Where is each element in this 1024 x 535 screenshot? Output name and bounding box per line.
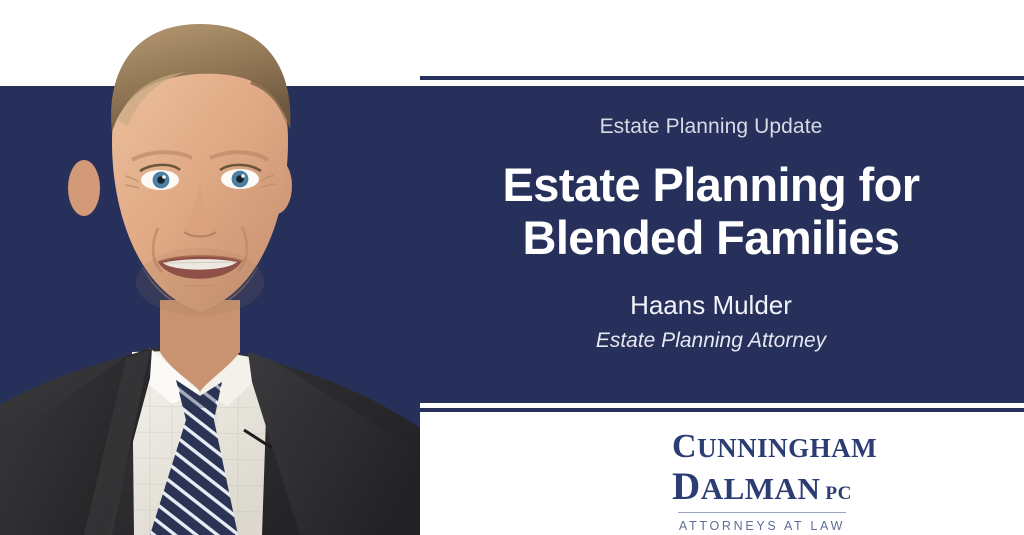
logo-cunningham-rest: UNNINGHAM xyxy=(697,433,877,463)
eyebrow-label: Estate Planning Update xyxy=(600,114,823,139)
headline-line-1: Estate Planning for xyxy=(503,158,920,211)
logo-entity-suffix: PC xyxy=(825,483,852,504)
speaker-role: Estate Planning Attorney xyxy=(596,328,826,354)
speaker-name: Haans Mulder xyxy=(630,290,792,321)
logo-tagline: ATTORNEYS AT LAW xyxy=(672,519,852,533)
logo-initial-d: D xyxy=(672,465,701,508)
logo-name-line-1: CUNNINGHAM xyxy=(672,430,852,464)
headline-line-2: Blended Families xyxy=(523,211,900,264)
banner-text-block: Estate Planning Update Estate Planning f… xyxy=(398,86,1024,403)
logo-dalman-rest: ALMAN xyxy=(701,471,821,506)
logo-initial-c: C xyxy=(672,428,697,465)
promo-banner: Estate Planning Update Estate Planning f… xyxy=(0,0,1024,535)
portrait-photo xyxy=(0,0,420,535)
firm-logo[interactable]: CUNNINGHAM DALMANPC ATTORNEYS AT LAW xyxy=(672,430,852,533)
logo-name-line-2: DALMANPC xyxy=(672,467,852,506)
logo-divider xyxy=(678,512,846,513)
page-title: Estate Planning for Blended Families xyxy=(503,159,920,264)
